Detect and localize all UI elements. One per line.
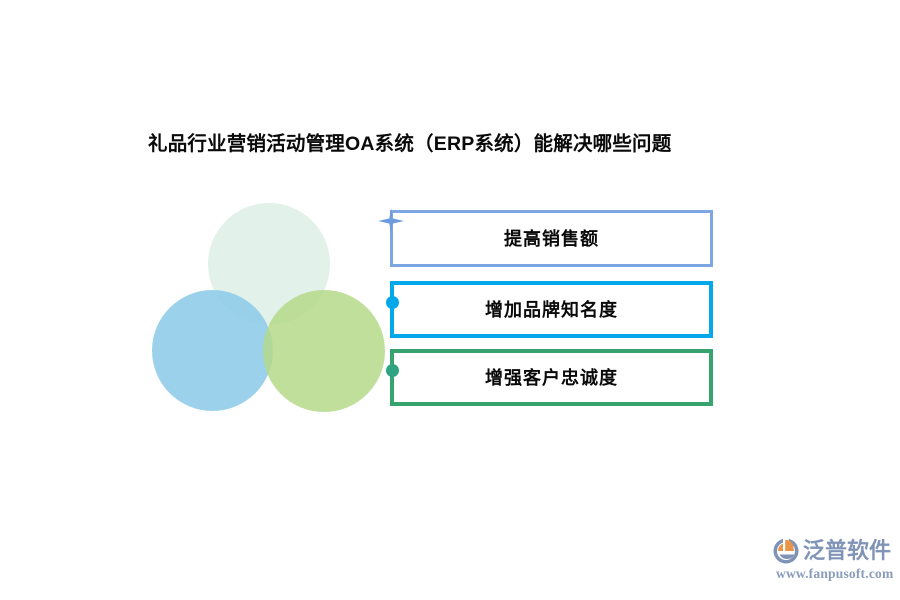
watermark-logo: 泛普软件 www.fanpusoft.com [772, 537, 894, 585]
item-box-improve-sales[interactable]: 提高销售额 [390, 210, 713, 267]
venn-diagram [150, 200, 390, 412]
venn-circle-right [263, 290, 385, 412]
slide-canvas: 礼品行业营销活动管理OA系统（ERP系统）能解决哪些问题 提高销售额 增加品牌知… [0, 0, 900, 600]
dot-icon-brand-awareness [386, 296, 399, 309]
logo-url: www.fanpusoft.com [776, 566, 893, 582]
item-box-increase-brand-awareness[interactable]: 增加品牌知名度 [390, 281, 713, 338]
logo-row: 泛普软件 [772, 537, 891, 565]
item-box-enhance-customer-loyalty[interactable]: 增强客户忠诚度 [390, 349, 713, 406]
fanpu-logo-icon [772, 537, 800, 565]
item-label: 增强客户忠诚度 [485, 366, 618, 390]
item-label: 增加品牌知名度 [485, 298, 618, 322]
dot-icon-customer-loyalty [386, 364, 399, 377]
item-label: 提高销售额 [504, 227, 599, 251]
venn-circle-left [152, 290, 273, 411]
logo-wordmark: 泛普软件 [803, 537, 891, 565]
sparkle-icon [376, 206, 406, 236]
page-title: 礼品行业营销活动管理OA系统（ERP系统）能解决哪些问题 [148, 130, 768, 158]
